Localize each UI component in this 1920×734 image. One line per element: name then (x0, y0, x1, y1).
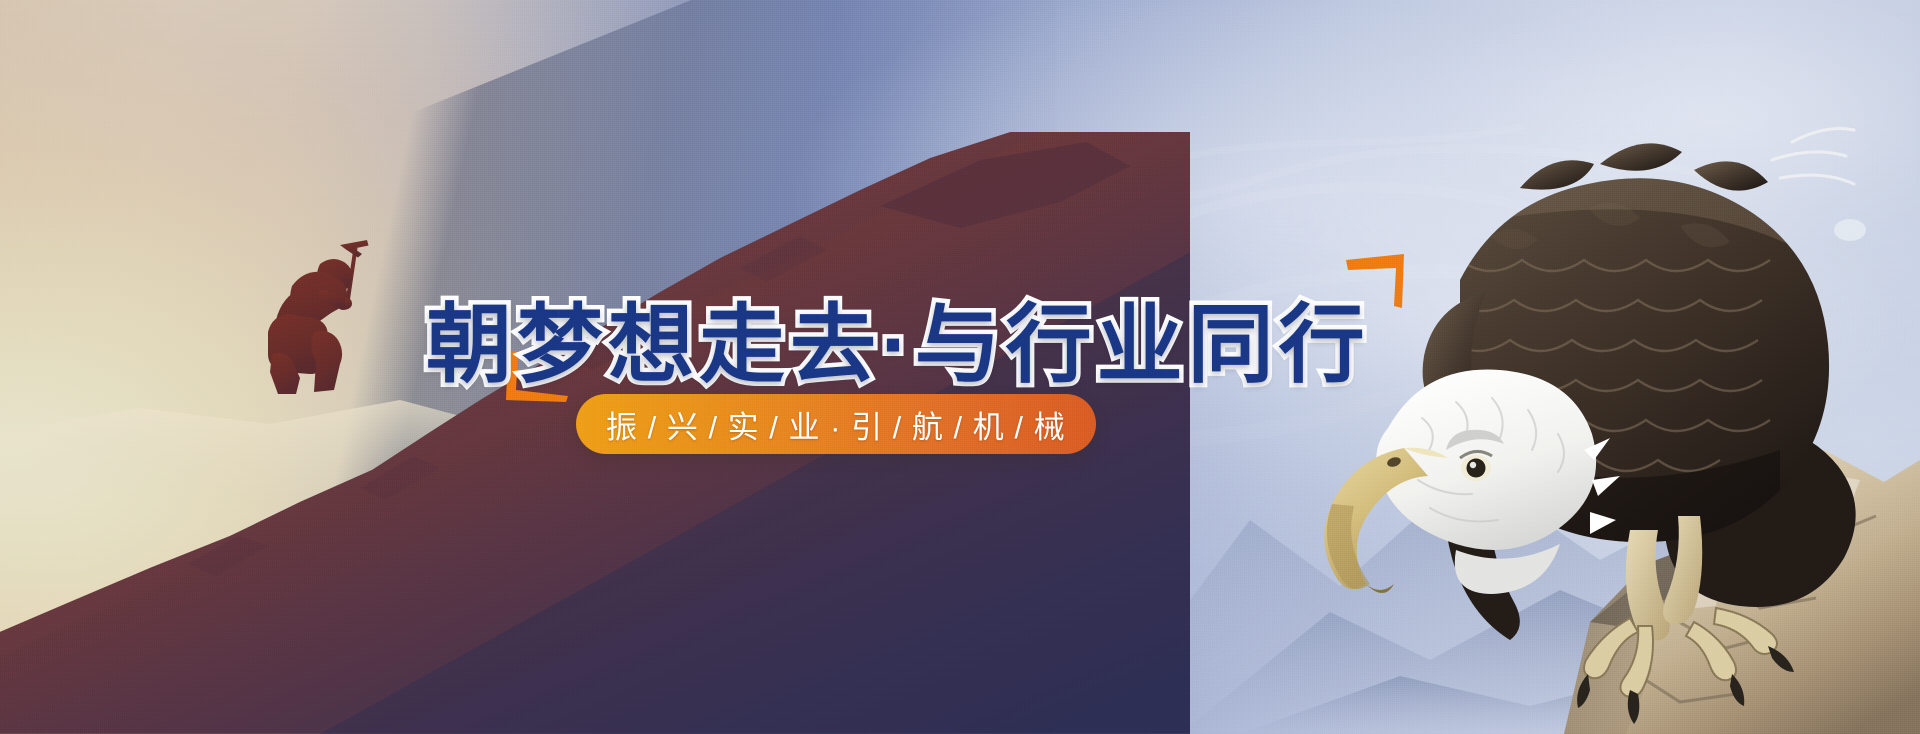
hero-banner: 朝梦想走去·与行业同行 振 / 兴 / 实 / 业 · 引 / 航 / 机 / … (0, 0, 1920, 734)
climber-silhouette (236, 214, 386, 394)
page-title: 朝梦想走去·与行业同行 (426, 302, 1370, 388)
corner-bracket-top-right-icon (1346, 254, 1408, 312)
banner-copy: 朝梦想走去·与行业同行 振 / 兴 / 实 / 业 · 引 / 航 / 机 / … (408, 222, 1418, 482)
subtitle-text: 振 / 兴 / 实 / 业 · 引 / 航 / 机 / 械 (606, 402, 1066, 447)
subtitle-badge: 振 / 兴 / 实 / 业 · 引 / 航 / 机 / 械 (576, 394, 1096, 454)
